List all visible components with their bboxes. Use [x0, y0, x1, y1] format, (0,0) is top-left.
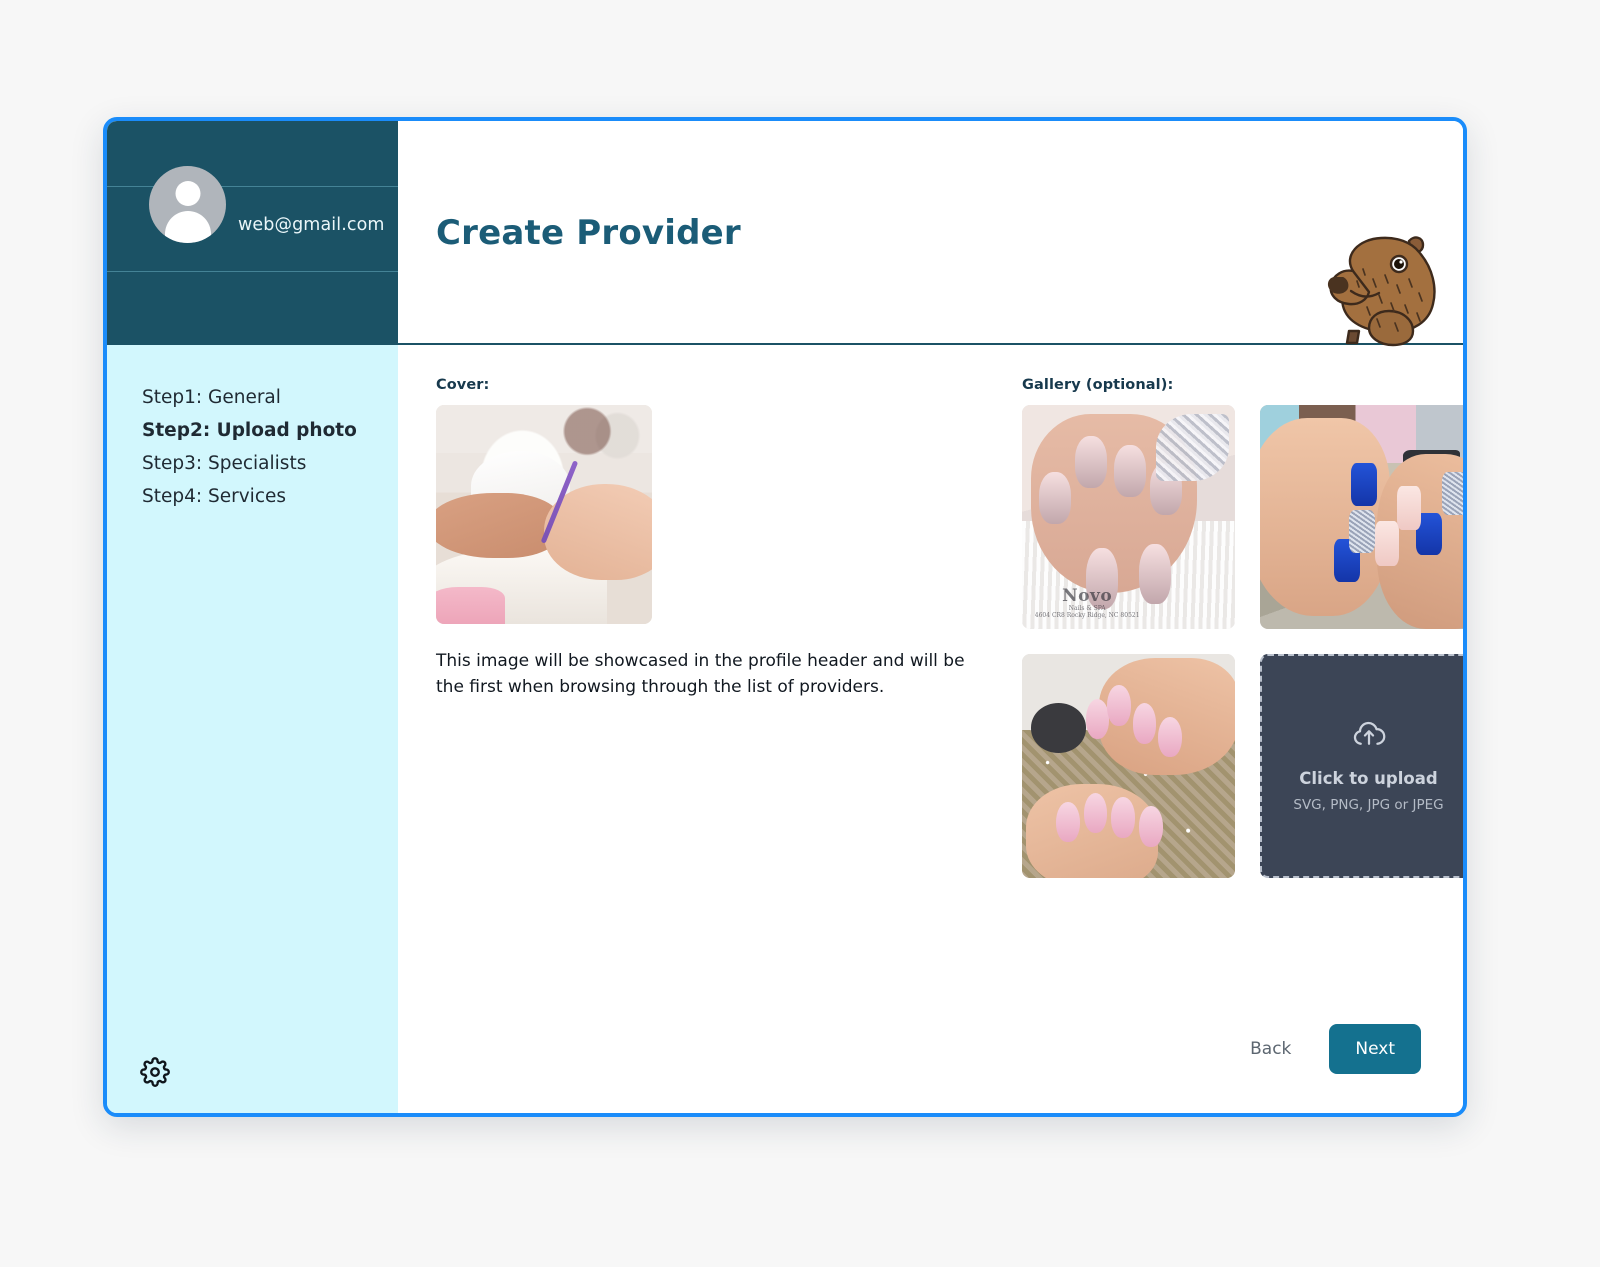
capybara-mascot-icon	[1291, 219, 1451, 349]
cloud-upload-icon	[1351, 719, 1387, 753]
sidebar-item-step3[interactable]: Step3: Specialists	[107, 447, 398, 480]
person-avatar-icon	[175, 181, 200, 206]
step-list: Step1: General Step2: Upload photo Step3…	[107, 381, 398, 513]
upload-subtitle: SVG, PNG, JPG or JPEG	[1293, 797, 1443, 813]
gallery-image-2-content	[1260, 405, 1467, 629]
sidebar-nav: Step1: General Step2: Upload photo Step3…	[107, 345, 398, 1113]
cover-caption: This image will be showcased in the prof…	[436, 648, 970, 701]
sidebar-divider-top	[107, 186, 398, 187]
next-button[interactable]: Next	[1329, 1024, 1421, 1074]
sidebar-item-step2[interactable]: Step2: Upload photo	[107, 414, 398, 447]
app-window: web@gmail.com Step1: General Step2: Uplo…	[103, 117, 1467, 1117]
gallery-label: Gallery (optional):	[1022, 377, 1467, 393]
upload-title: Click to upload	[1299, 769, 1437, 788]
main-content: Create Provider	[398, 121, 1463, 1113]
sidebar: web@gmail.com Step1: General Step2: Uplo…	[107, 121, 398, 1113]
upload-step-body: Cover: This image will be showcased in t…	[398, 345, 1463, 1007]
gallery-image-1-content: Novo Nails & SPA 4604 CR8 Rocky Ridge, N…	[1022, 405, 1235, 629]
page-header: Create Provider	[398, 121, 1463, 345]
gallery-watermark: Novo Nails & SPA 4604 CR8 Rocky Ridge, N…	[1035, 587, 1140, 620]
sidebar-item-step4[interactable]: Step4: Services	[107, 480, 398, 513]
user-email: web@gmail.com	[238, 215, 385, 235]
upload-dropzone[interactable]: Click to upload SVG, PNG, JPG or JPEG	[1260, 654, 1467, 878]
gallery-image-1[interactable]: Novo Nails & SPA 4604 CR8 Rocky Ridge, N…	[1022, 405, 1235, 629]
gallery-column: Gallery (optional): Novo Nails & SPA	[984, 377, 1467, 1007]
gallery-image-2[interactable]	[1260, 405, 1467, 629]
cover-label: Cover:	[436, 377, 984, 393]
cover-image-content	[436, 405, 652, 624]
gallery-image-3[interactable]	[1022, 654, 1235, 878]
cover-image[interactable]	[436, 405, 652, 624]
page-title: Create Provider	[436, 213, 741, 253]
avatar[interactable]	[149, 166, 226, 243]
person-avatar-icon-body	[165, 211, 211, 243]
cover-column: Cover: This image will be showcased in t…	[436, 377, 984, 1007]
gallery-grid: Novo Nails & SPA 4604 CR8 Rocky Ridge, N…	[1022, 405, 1467, 878]
back-button[interactable]: Back	[1240, 1031, 1301, 1067]
sidebar-divider-bottom	[107, 271, 398, 272]
wizard-footer: Back Next	[398, 1007, 1463, 1113]
sidebar-item-step1[interactable]: Step1: General	[107, 381, 398, 414]
gallery-image-3-content	[1022, 654, 1235, 878]
gear-icon[interactable]	[138, 1055, 172, 1089]
sidebar-user-panel: web@gmail.com	[107, 121, 398, 345]
